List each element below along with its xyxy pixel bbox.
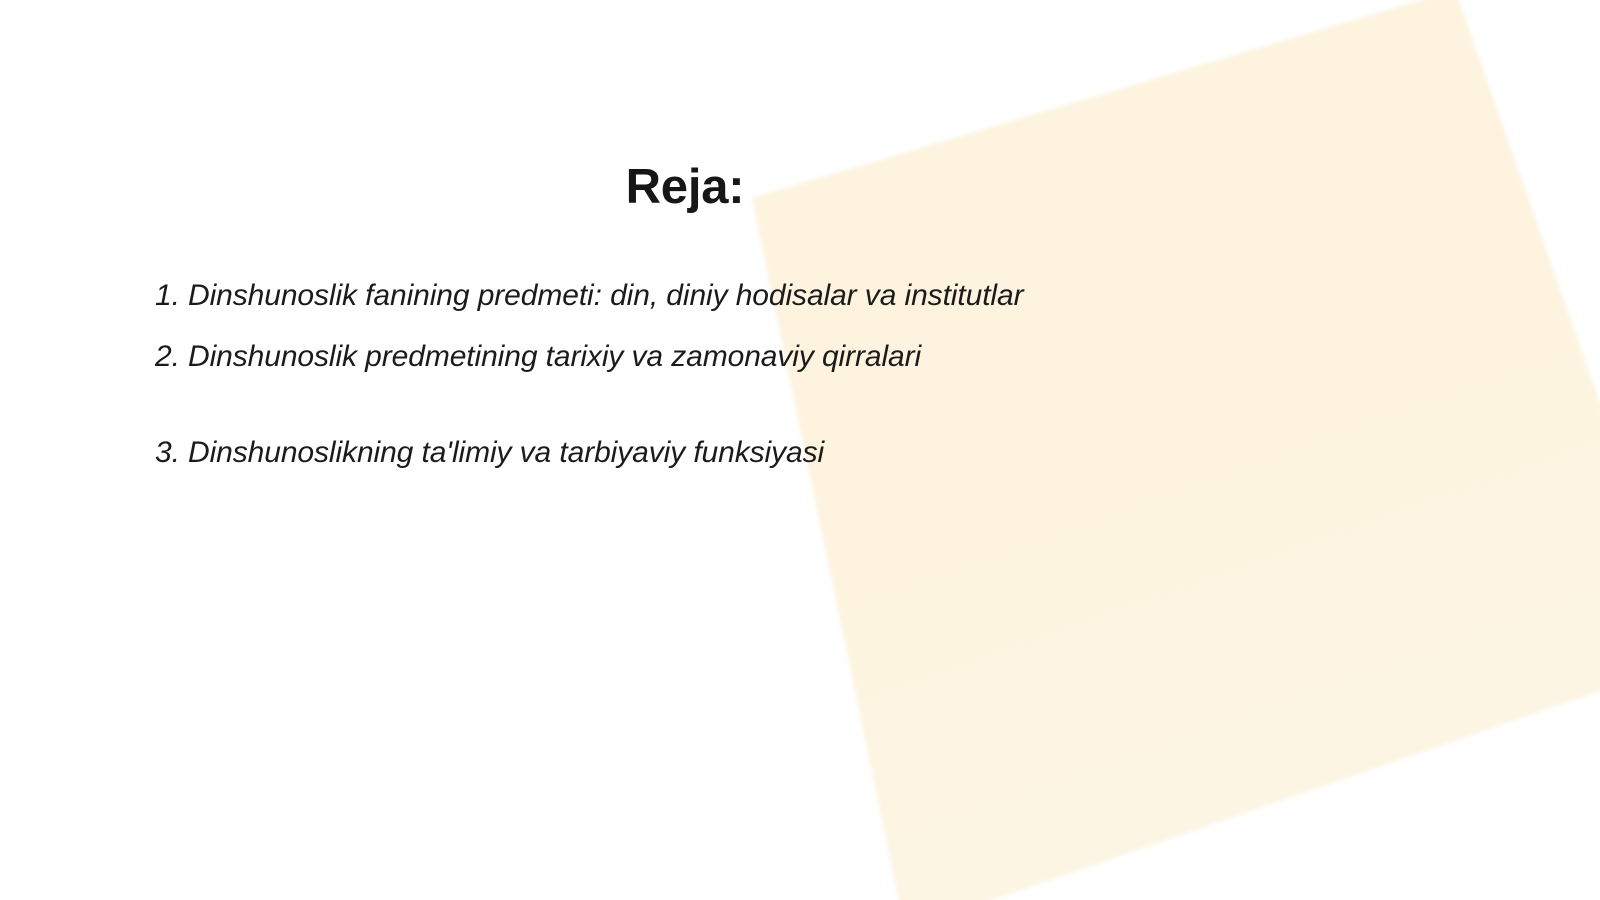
presentation-slide: Reja: 1. Dinshunoslik fanining predmeti:… [0, 0, 1600, 900]
slide-content: Reja: 1. Dinshunoslik fanining predmeti:… [0, 0, 1600, 900]
list-item: 3. Dinshunoslikning ta'limiy va tarbiyav… [155, 433, 1055, 473]
page-title: Reja: [0, 161, 1370, 215]
list-item: 2. Dinshunoslik predmetining tarixiy va … [155, 337, 1055, 377]
agenda-list: 1. Dinshunoslik fanining predmeti: din, … [155, 276, 1055, 473]
list-item: 1. Dinshunoslik fanining predmeti: din, … [155, 276, 1055, 316]
